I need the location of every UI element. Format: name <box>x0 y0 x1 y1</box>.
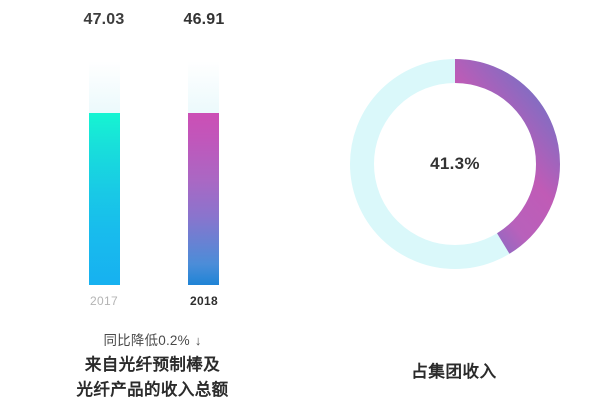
bar-fill-2018 <box>188 113 219 285</box>
arrow-down-icon: ↓ <box>195 333 202 348</box>
delta-text: 同比降低0.2% <box>103 333 189 348</box>
bar-axis-label-2018: 2018 <box>159 294 249 308</box>
donut-svg <box>344 53 566 275</box>
bar-column-2018 <box>188 61 219 285</box>
bar-axis-label-2017: 2017 <box>59 294 149 308</box>
year-over-year-change: 同比降低0.2%↓ <box>0 329 305 349</box>
bar-value-2018: 46.91 <box>159 11 249 29</box>
donut-chart-panel: 41.3% 占集团收入 <box>305 0 603 413</box>
donut-chart: 41.3% <box>344 53 566 275</box>
bar-fill-2017 <box>89 113 120 285</box>
bar-caption-line-2: 光纤产品的收入总额 <box>0 378 305 403</box>
bar-caption-line-1: 来自光纤预制棒及 <box>0 353 305 378</box>
bar-value-2017: 47.03 <box>59 11 149 29</box>
bar-column-2017 <box>89 61 120 285</box>
bar-chart-caption: 来自光纤预制棒及 光纤产品的收入总额 <box>0 353 305 403</box>
bar-chart-panel: 47.03 46.91 2017 2018 同比降低0.2%↓ 来自光纤预制棒及… <box>0 0 305 413</box>
donut-chart-caption: 占集团收入 <box>305 358 603 382</box>
